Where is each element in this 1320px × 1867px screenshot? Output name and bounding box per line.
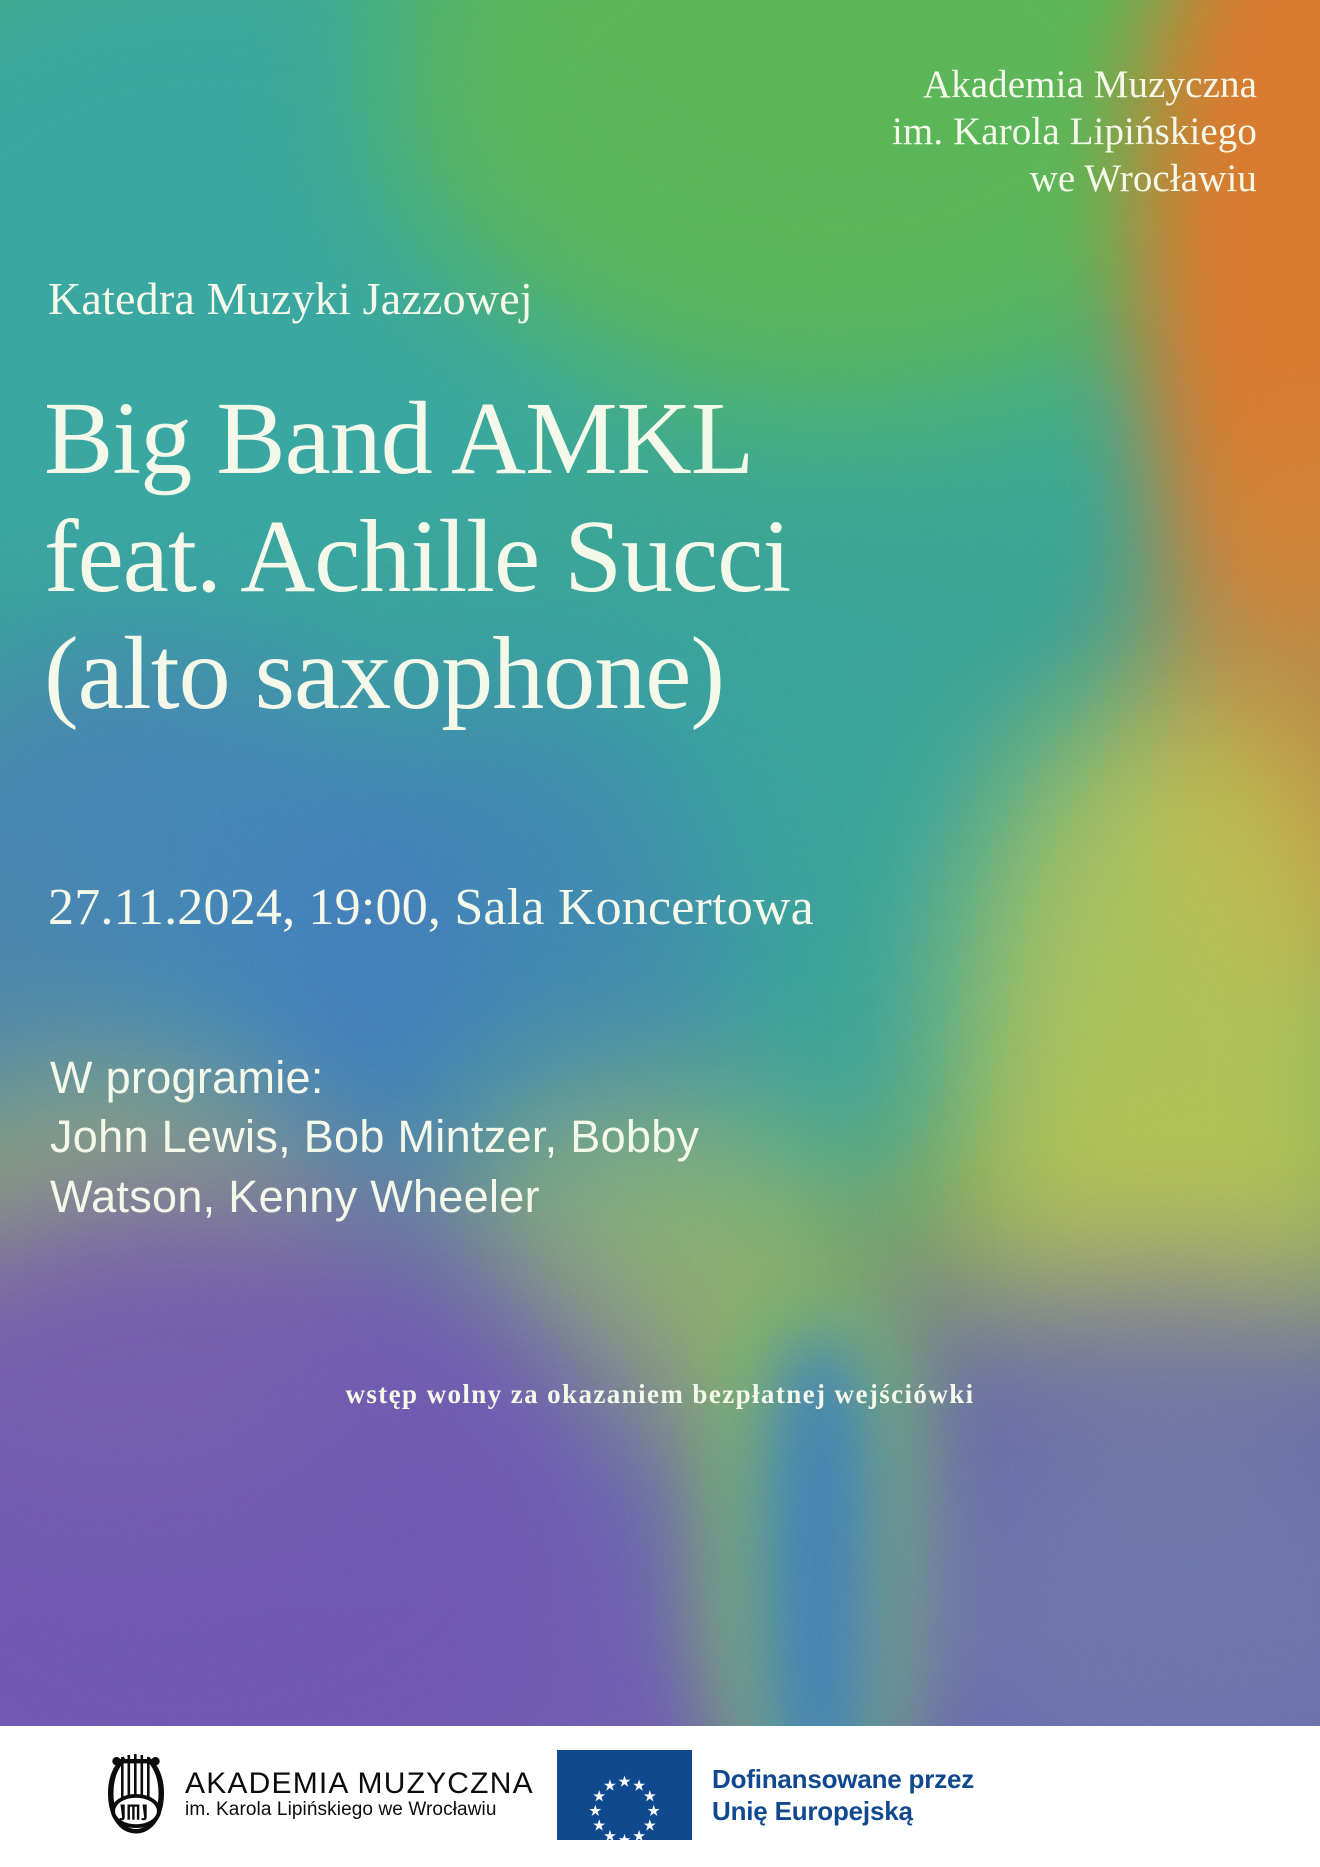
program-heading: W programie: <box>50 1048 699 1107</box>
event-datetime-venue: 27.11.2024, 19:00, Sala Koncertowa <box>48 878 814 937</box>
poster-text-layer: Akademia Muzyczna im. Karola Lipińskiego… <box>0 0 1320 1726</box>
program-line-1: John Lewis, Bob Mintzer, Bobby <box>50 1107 699 1166</box>
amkl-wordmark-top: AKADEMIA MUZYCZNA <box>185 1768 534 1800</box>
program-block: W programie: John Lewis, Bob Mintzer, Bo… <box>50 1048 699 1226</box>
eu-flag-icon <box>557 1750 692 1840</box>
title-line-1: Big Band AMKL <box>44 380 790 498</box>
lyre-amuz-logo-icon <box>103 1748 169 1840</box>
academy-line-1: Akademia Muzyczna <box>892 62 1257 109</box>
page-title: Big Band AMKL feat. Achille Succi (alto … <box>44 380 790 733</box>
title-line-3: (alto saxophone) <box>44 615 790 733</box>
academy-line-2: im. Karola Lipińskiego <box>892 109 1257 156</box>
eu-text-line-2: Unię Europejską <box>712 1795 974 1827</box>
amkl-wordmark: AKADEMIA MUZYCZNA im. Karola Lipińskiego… <box>185 1768 534 1821</box>
amkl-wordmark-bottom: im. Karola Lipińskiego we Wrocławiu <box>185 1800 534 1821</box>
eu-text-line-1: Dofinansowane przez <box>712 1763 974 1795</box>
department-name: Katedra Muzyki Jazzowej <box>48 272 533 325</box>
eu-funding-text: Dofinansowane przez Unię Europejską <box>712 1763 974 1827</box>
admission-note: wstęp wolny za okazaniem bezpłatnej wejś… <box>0 1379 1320 1410</box>
footer-logo-bar: AKADEMIA MUZYCZNA im. Karola Lipińskiego… <box>0 1726 1320 1867</box>
eu-funding-logo: Dofinansowane przez Unię Europejską <box>557 1750 974 1840</box>
academy-name: Akademia Muzyczna im. Karola Lipińskiego… <box>892 62 1257 202</box>
amkl-logo: AKADEMIA MUZYCZNA im. Karola Lipińskiego… <box>103 1748 534 1840</box>
academy-line-3: we Wrocławiu <box>892 156 1257 203</box>
title-line-2: feat. Achille Succi <box>44 498 790 616</box>
concert-poster: Akademia Muzyczna im. Karola Lipińskiego… <box>0 0 1320 1867</box>
program-line-2: Watson, Kenny Wheeler <box>50 1167 699 1226</box>
